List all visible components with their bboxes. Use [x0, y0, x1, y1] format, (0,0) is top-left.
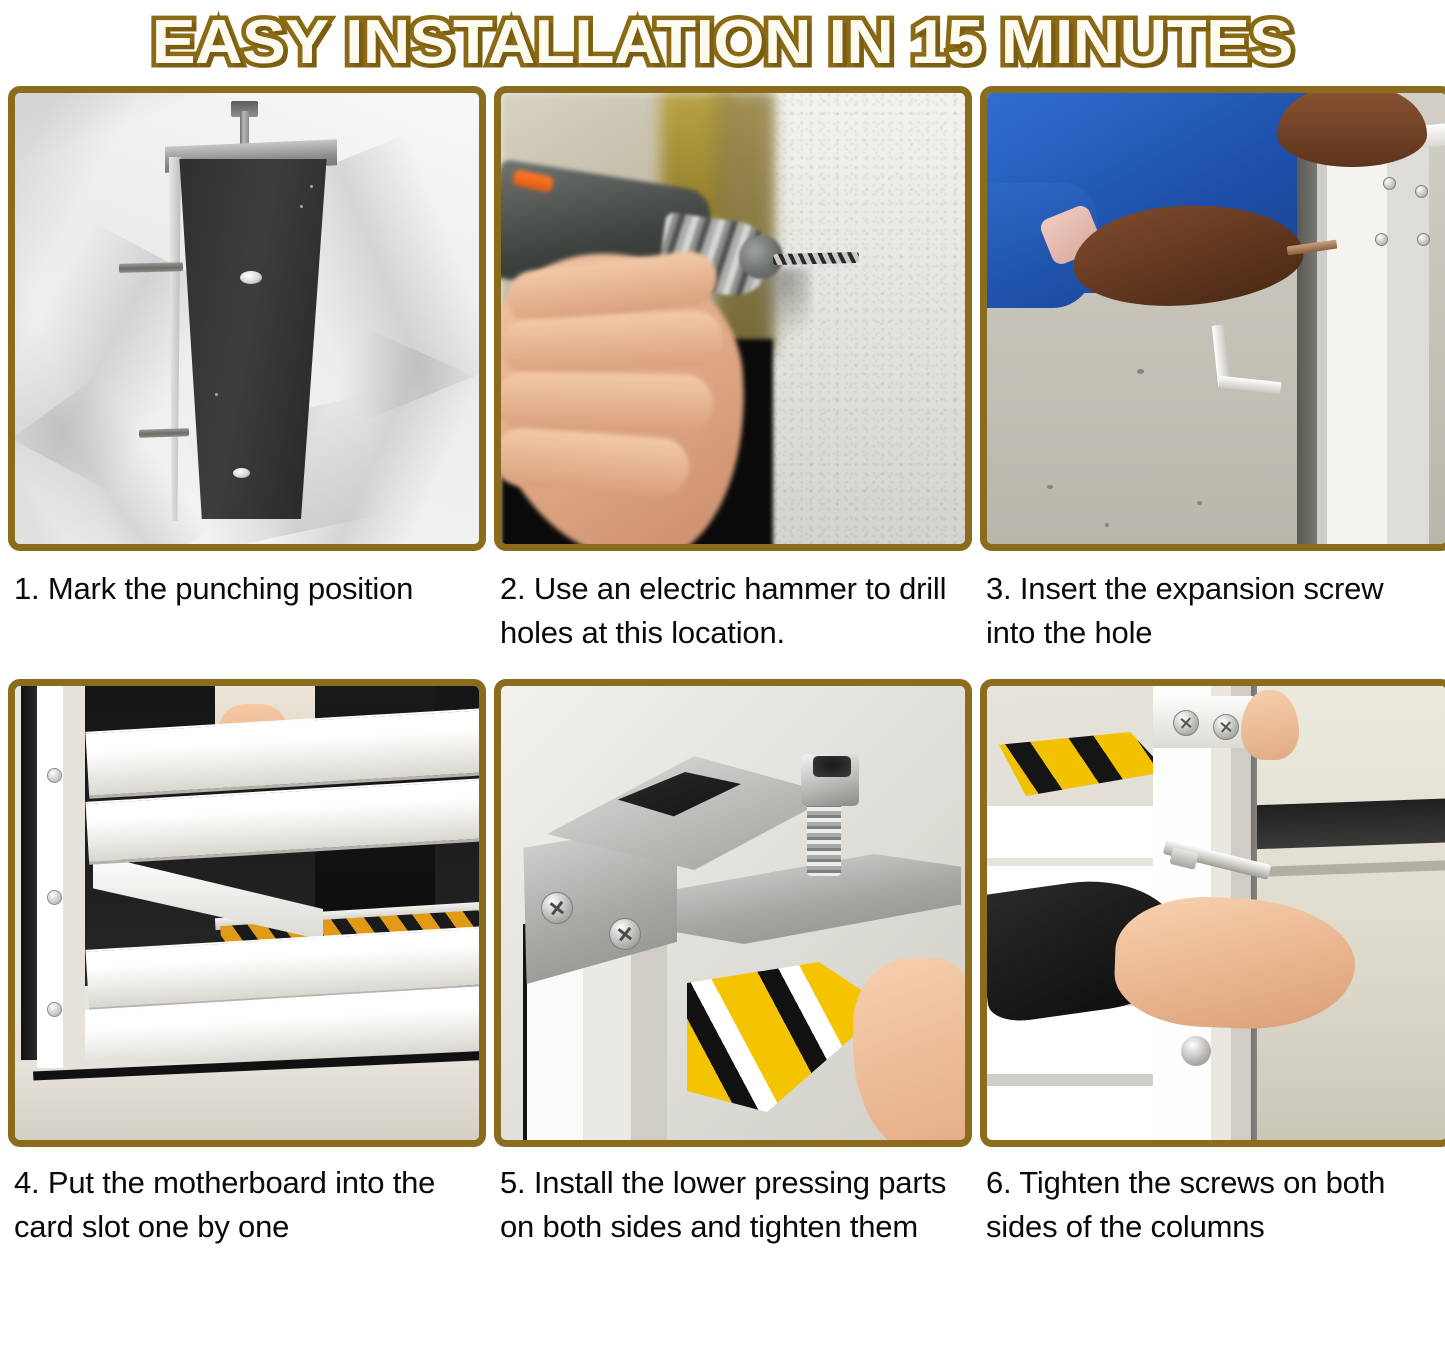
step-3-caption: 3. Insert the expansion screw into the h… [980, 551, 1445, 679]
step-card-2: 2. Use an electric hammer to drill holes… [494, 86, 972, 679]
step-card-6: 6. Tighten the screws on both sides of t… [980, 679, 1445, 1265]
step-card-5: 5. Install the lower pressing parts on b… [494, 679, 972, 1265]
aluminium-column [1317, 139, 1429, 544]
step-4-photo [15, 686, 479, 1140]
page-title: EASY INSTALLATION IN 15 MINUTES [152, 10, 1293, 76]
step-6-photo-frame [980, 679, 1445, 1147]
step-1-caption: 1. Mark the punching position [8, 551, 486, 679]
phillips-screw [609, 918, 641, 950]
step-6-photo [987, 686, 1445, 1140]
step-1-photo-frame [8, 86, 486, 551]
bracket-mounting-hole-upper [240, 271, 262, 284]
hand [853, 958, 965, 1140]
column-screw [1181, 1036, 1211, 1066]
phillips-screw [1173, 710, 1199, 736]
step-5-photo-frame [494, 679, 972, 1147]
step-5-caption: 5. Install the lower pressing parts on b… [494, 1147, 972, 1265]
step-3-photo-frame [980, 86, 1445, 551]
step-2-caption: 2. Use an electric hammer to drill holes… [494, 551, 972, 679]
step-2-photo-frame [494, 86, 972, 551]
step-5-photo [501, 686, 965, 1140]
step-card-3: 3. Insert the expansion screw into the h… [980, 86, 1445, 679]
drill-bit [773, 252, 859, 265]
step-6-caption: 6. Tighten the screws on both sides of t… [980, 1147, 1445, 1265]
phillips-screw [1213, 714, 1239, 740]
hand-upper [1277, 93, 1427, 167]
hex-bolt-shaft [807, 796, 841, 876]
step-4-photo-frame [8, 679, 486, 1147]
installation-steps-grid: 1. Mark the punching position [0, 86, 1445, 1265]
header-banner: EASY INSTALLATION IN 15 MINUTES [0, 0, 1445, 86]
phillips-screw [541, 892, 573, 924]
bracket-stud-upper [119, 262, 183, 273]
step-2-photo [501, 93, 965, 544]
step-4-caption: 4. Put the motherboard into the card slo… [8, 1147, 486, 1265]
step-card-4: 4. Put the motherboard into the card slo… [8, 679, 486, 1265]
bracket-mounting-hole-lower [233, 468, 250, 478]
step-3-photo [987, 93, 1445, 544]
step-card-1: 1. Mark the punching position [8, 86, 486, 679]
step-1-photo [15, 93, 479, 544]
